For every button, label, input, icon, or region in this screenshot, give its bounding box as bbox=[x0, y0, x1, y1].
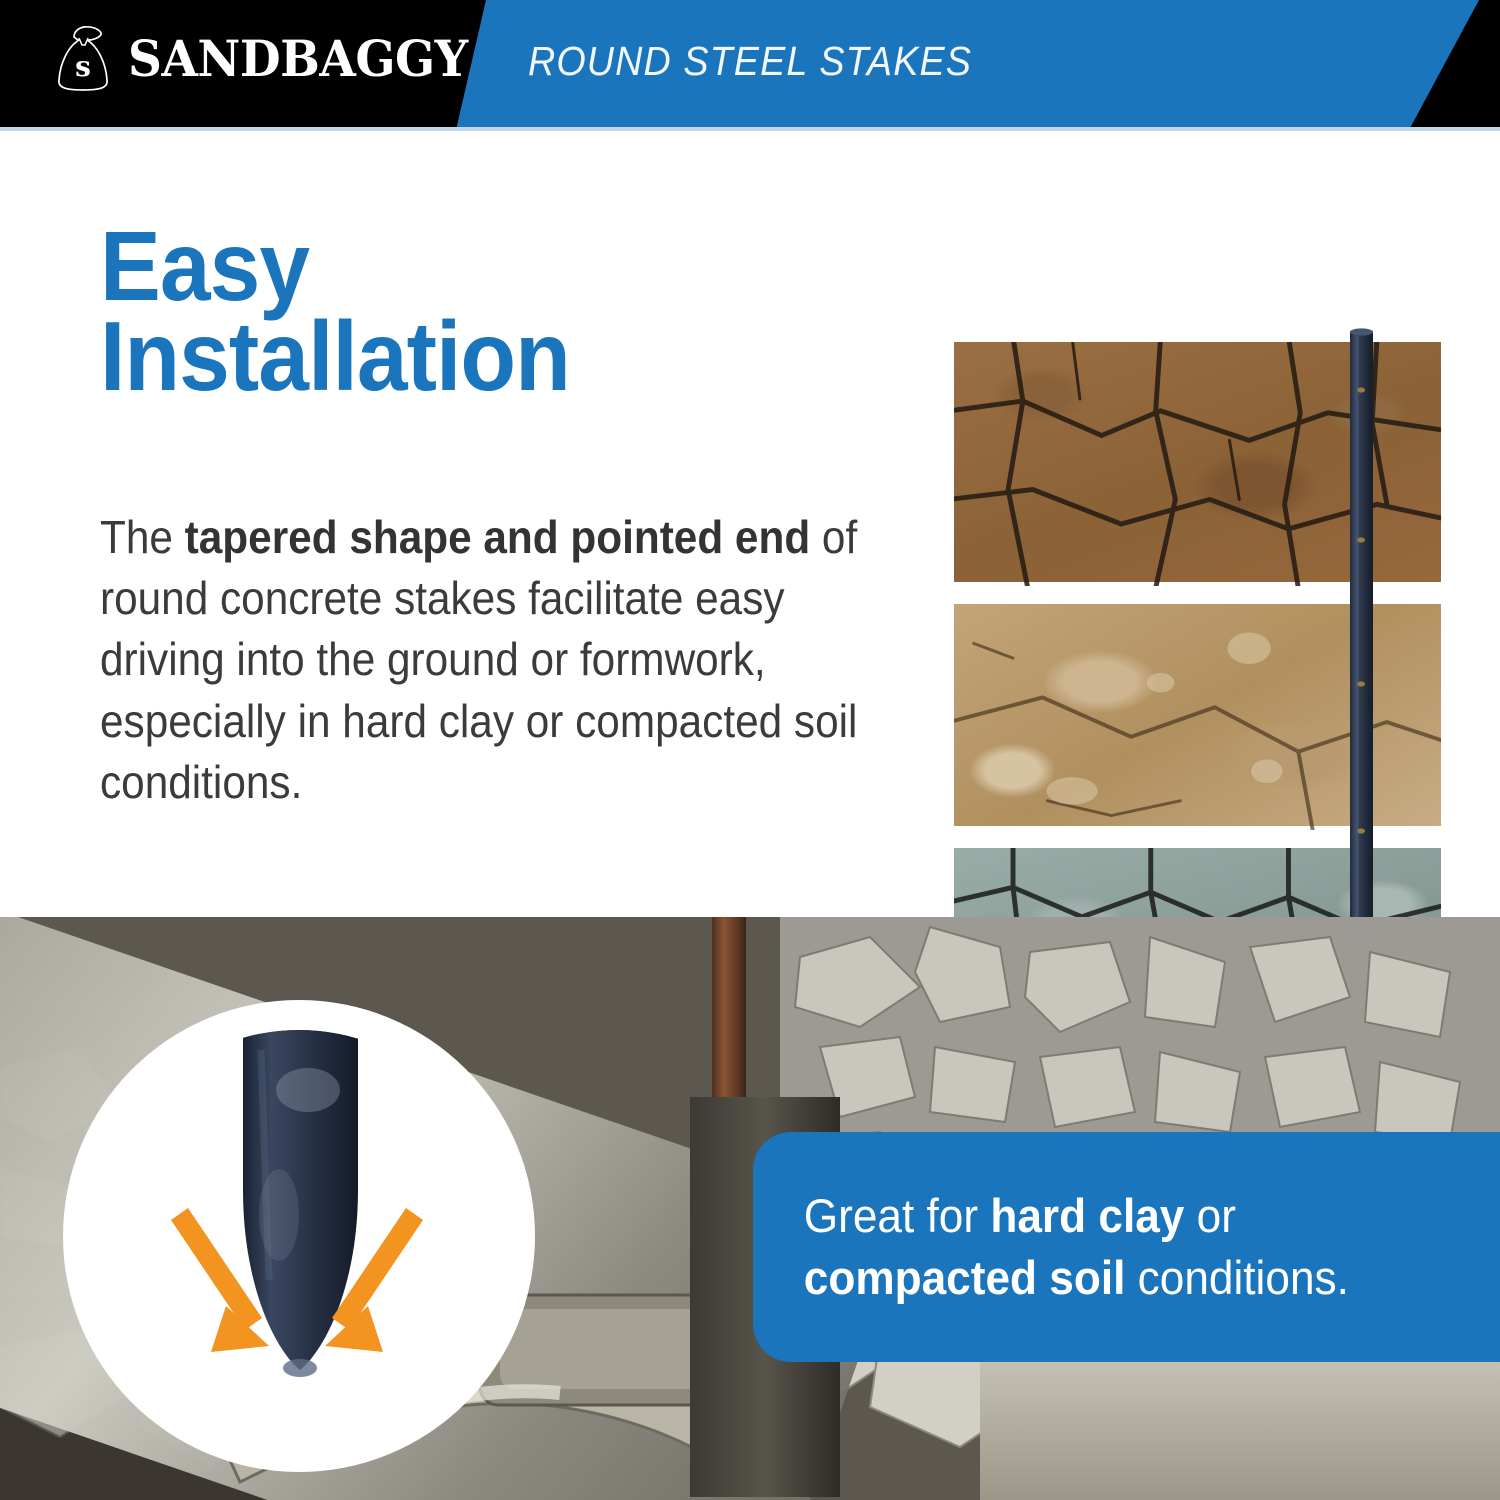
body-paragraph: The tapered shape and pointed end of rou… bbox=[100, 507, 864, 813]
page-title: Easy Installation bbox=[100, 221, 844, 401]
infographic-canvas: s SANDBAGGY ROUND STEEL STAKES Easy Inst… bbox=[0, 0, 1500, 1500]
sandbag-icon: s bbox=[52, 24, 114, 94]
lumber-board bbox=[980, 1347, 1500, 1500]
callout-text: Great for hard clay or compacted soil co… bbox=[753, 1185, 1368, 1310]
stake-tip-callout-circle bbox=[63, 1000, 535, 1472]
callout-banner: Great for hard clay or compacted soil co… bbox=[753, 1132, 1500, 1362]
header-title: ROUND STEEL STAKES bbox=[528, 38, 972, 85]
callout-part-2: or bbox=[1184, 1189, 1236, 1242]
callout-part-3: conditions. bbox=[1125, 1251, 1348, 1304]
callout-bold-2: compacted soil bbox=[804, 1251, 1126, 1304]
brand-name: SANDBAGGY bbox=[128, 30, 468, 88]
stake-tip-diagram bbox=[93, 1030, 505, 1442]
callout-part-1: Great for bbox=[804, 1189, 991, 1242]
svg-text:s: s bbox=[75, 50, 91, 83]
header-bar: s SANDBAGGY ROUND STEEL STAKES bbox=[0, 0, 1500, 130]
brand-logo: s SANDBAGGY bbox=[52, 24, 468, 94]
callout-bold-1: hard clay bbox=[990, 1189, 1184, 1242]
body-text-bold-1: tapered shape and pointed end bbox=[185, 511, 810, 563]
headline-line-2: Installation bbox=[100, 301, 570, 411]
content-panel: Easy Installation The tapered shape and … bbox=[0, 131, 1500, 920]
body-text-part-1: The bbox=[100, 511, 185, 563]
stake-tip-photo bbox=[93, 1030, 505, 1442]
